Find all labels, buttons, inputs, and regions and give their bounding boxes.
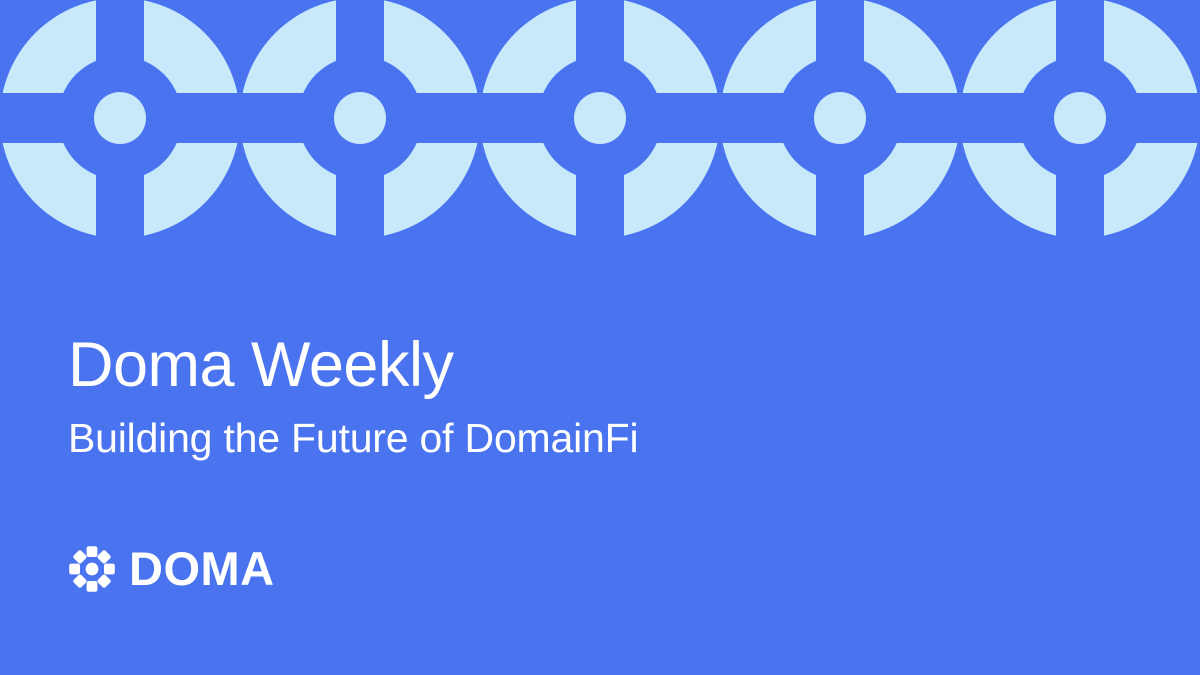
brand-logo-lockup: DOMA bbox=[68, 545, 275, 593]
brand-wordmark: DOMA bbox=[129, 545, 275, 593]
slide-content: Doma Weekly Building the Future of Domai… bbox=[68, 237, 1132, 675]
page-title: Doma Weekly bbox=[68, 329, 453, 401]
doma-rosette-icon bbox=[68, 545, 116, 593]
pattern-svg bbox=[0, 0, 1200, 237]
page-subtitle: Building the Future of DomainFi bbox=[68, 413, 638, 463]
target-ring-pattern bbox=[0, 0, 1200, 237]
slide-canvas: Doma Weekly Building the Future of Domai… bbox=[0, 0, 1200, 675]
pattern-motif-group bbox=[0, 0, 1200, 237]
